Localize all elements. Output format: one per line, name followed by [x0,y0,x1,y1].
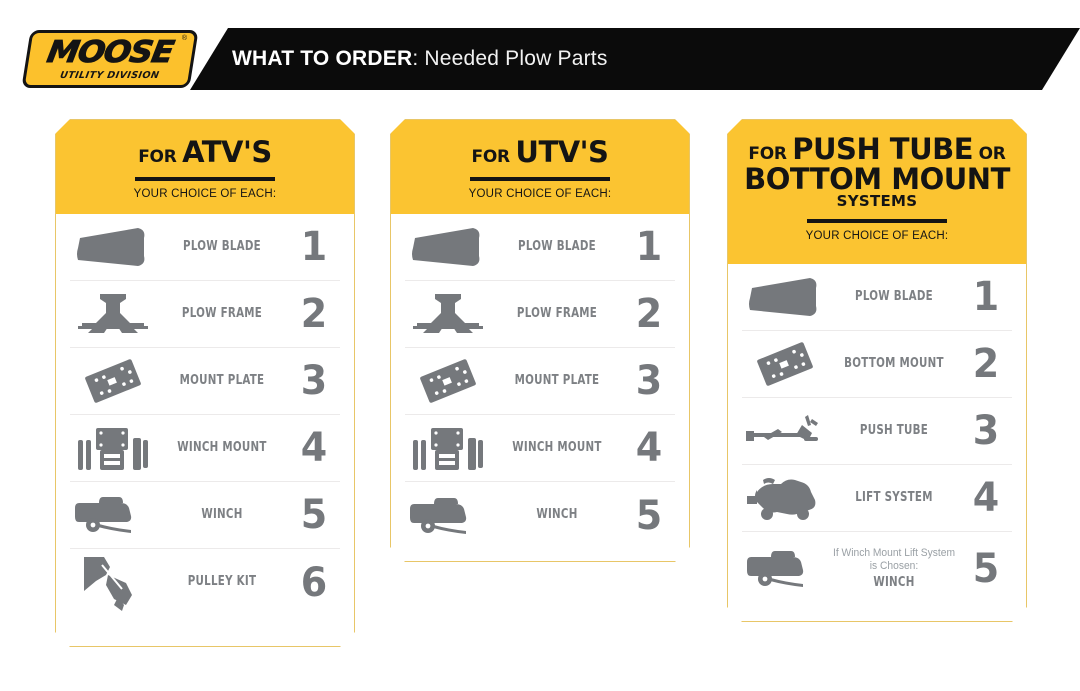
card-push-divider [807,219,947,223]
row-label: WINCH MOUNT [164,440,280,456]
row-label-text: WINCH [873,575,914,590]
table-row: PLOW FRAME 2 [70,281,340,348]
row-number: 2 [624,294,673,334]
plow-frame-icon [70,285,156,343]
card-utv-title-prefix: FOR [472,147,510,167]
table-row: PLOW BLADE 1 [70,214,340,281]
card-push-title-line2: BOTTOM MOUNT [728,165,1026,195]
table-row: MOUNT PLATE 3 [405,348,675,415]
row-number: 5 [289,495,338,535]
plow-blade-icon [70,218,156,276]
row-number: 4 [289,428,338,468]
row-number: 3 [961,411,1010,451]
card-utv-header: FOR UTV'S YOUR CHOICE OF EACH: [391,120,689,214]
row-label: PLOW BLADE [164,239,280,255]
mount-plate-icon [70,352,156,410]
table-row: WINCH MOUNT 4 [70,415,340,482]
row-label: PULLEY KIT [164,574,280,590]
pulley-kit-icon [70,554,156,612]
row-label: LIFT SYSTEM [836,490,952,506]
row-number: 6 [289,563,338,603]
row-label: WINCH MOUNT [499,440,615,456]
table-row: PULLEY KIT 6 [70,549,340,616]
table-row: BOTTOM MOUNT 2 [742,331,1012,398]
card-push-rows: PLOW BLADE 1 BOTTOM MOUNT 2 PUSH TUBE 3 [728,264,1026,606]
table-row: MOUNT PLATE 3 [70,348,340,415]
table-row: PUSH TUBE 3 [742,398,1012,465]
table-row: WINCH 5 [405,482,675,549]
card-utv-rows: PLOW BLADE 1 PLOW FRAME 2 MOUNT PLATE 3 [391,214,689,549]
card-atv: FOR ATV'S YOUR CHOICE OF EACH: PLOW BLAD… [55,119,355,647]
row-note: If Winch Mount Lift System is Chosen: [832,547,955,573]
row-label: MOUNT PLATE [164,373,280,389]
row-number: 2 [289,294,338,334]
page-header: WHAT TO ORDER : Needed Plow Parts MOOSE … [0,28,1080,90]
row-label: MOUNT PLATE [499,373,615,389]
row-number: 3 [624,361,673,401]
row-label: PUSH TUBE [836,423,952,439]
card-atv-title-main: ATV'S [182,135,272,169]
card-push-title-or: OR [979,144,1006,164]
winch-mount-icon [70,419,156,477]
card-atv-divider [135,177,275,181]
row-number: 3 [289,361,338,401]
card-atv-title-prefix: FOR [138,147,176,167]
push-tube-icon [742,402,828,460]
row-label: If Winch Mount Lift System is Chosen: WI… [836,547,952,592]
row-label: PLOW BLADE [499,239,615,255]
card-push-title-line3: SYSTEMS [728,194,1026,209]
page-title-light: : Needed Plow Parts [412,47,607,71]
table-row: WINCH MOUNT 4 [405,415,675,482]
winch-mount-icon [405,419,491,477]
card-push-tube-bottom-mount: FOR PUSH TUBE OR BOTTOM MOUNT SYSTEMS YO… [727,119,1027,622]
card-push-title-line1: FOR PUSH TUBE OR [728,135,1026,165]
row-number: 1 [624,227,673,267]
row-number: 1 [289,227,338,267]
card-push-header: FOR PUSH TUBE OR BOTTOM MOUNT SYSTEMS YO… [728,120,1026,264]
card-utv-choice-label: YOUR CHOICE OF EACH: [391,188,689,200]
logo-tagline: UTILITY DIVISION [60,71,161,81]
table-row: PLOW BLADE 1 [742,264,1012,331]
logo-wordmark: MOOSE [45,38,175,68]
table-row: If Winch Mount Lift System is Chosen: WI… [742,532,1012,606]
card-atv-choice-label: YOUR CHOICE OF EACH: [56,188,354,200]
card-utv: FOR UTV'S YOUR CHOICE OF EACH: PLOW BLAD… [390,119,690,562]
card-atv-title: FOR ATV'S [56,138,354,168]
page-title-bold: WHAT TO ORDER [232,47,412,71]
row-number: 4 [961,478,1010,518]
plow-frame-icon [405,285,491,343]
cards-container: FOR ATV'S YOUR CHOICE OF EACH: PLOW BLAD… [0,119,1080,679]
registered-mark-icon: ® [182,35,187,42]
card-atv-header: FOR ATV'S YOUR CHOICE OF EACH: [56,120,354,214]
mount-plate-icon [405,352,491,410]
card-utv-title: FOR UTV'S [391,138,689,168]
row-number: 5 [624,496,673,536]
table-row: LIFT SYSTEM 4 [742,465,1012,532]
lift-system-icon [742,469,828,527]
row-number: 2 [961,344,1010,384]
table-row: PLOW FRAME 2 [405,281,675,348]
winch-icon [742,540,828,598]
winch-icon [70,486,156,544]
row-label: PLOW FRAME [499,306,615,322]
row-number: 1 [961,277,1010,317]
bottom-mount-icon [742,335,828,393]
card-push-choice-label: YOUR CHOICE OF EACH: [728,230,1026,242]
row-number: 4 [624,428,673,468]
card-push-title-prefix: FOR [748,144,786,164]
card-atv-rows: PLOW BLADE 1 PLOW FRAME 2 MOUNT PLATE 3 [56,214,354,616]
row-label: WINCH [499,507,615,523]
table-row: WINCH 5 [70,482,340,549]
page-title: WHAT TO ORDER : Needed Plow Parts [232,28,608,90]
row-label: WINCH [164,507,280,523]
card-push-title-main: PUSH TUBE [792,132,973,166]
row-label: PLOW FRAME [164,306,280,322]
row-label: BOTTOM MOUNT [836,356,952,372]
row-number: 5 [961,549,1010,589]
plow-blade-icon [405,218,491,276]
winch-icon [405,487,491,545]
plow-blade-icon [742,268,828,326]
card-utv-divider [470,177,610,181]
card-utv-title-main: UTV'S [515,135,608,169]
table-row: PLOW BLADE 1 [405,214,675,281]
moose-logo: MOOSE UTILITY DIVISION ® [21,30,198,88]
row-label: PLOW BLADE [836,289,952,305]
